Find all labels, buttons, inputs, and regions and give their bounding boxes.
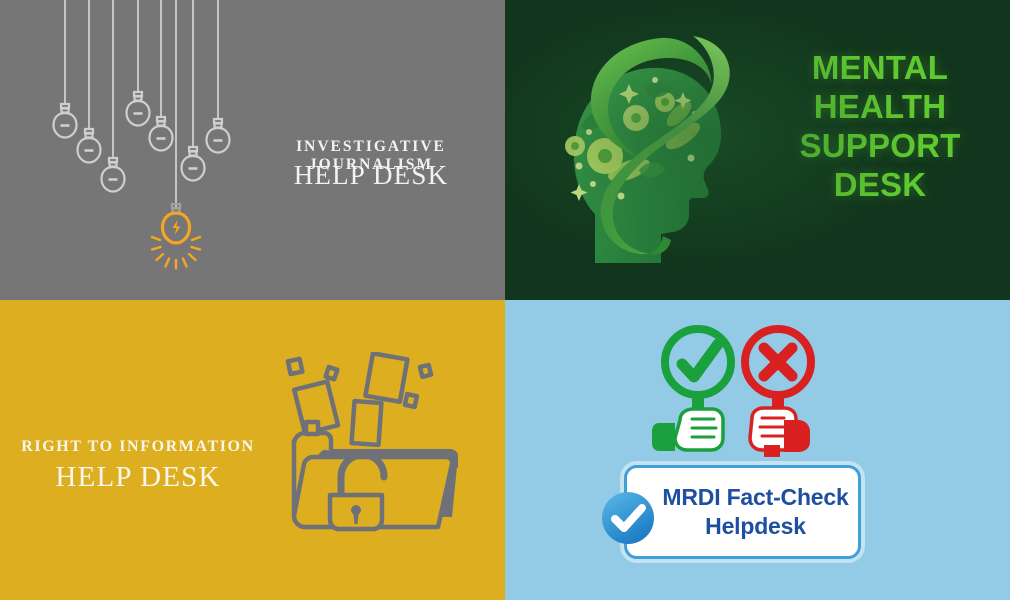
check-icon — [682, 344, 718, 377]
panel-title-investigative-journalism: HELP DESK — [246, 160, 496, 191]
light-bulb-icon — [203, 0, 233, 170]
paper-scrap-icon — [405, 394, 417, 407]
paper-scrap-icon — [420, 365, 431, 377]
mh-line-4: DESK — [760, 165, 1000, 204]
green-ribbon-head-icon — [543, 18, 758, 283]
folder-unlocked-icon — [280, 352, 470, 552]
cross-icon — [764, 348, 792, 376]
true-paddle-icon — [652, 329, 731, 451]
paper-scrap-icon — [326, 367, 338, 379]
true-false-paddles-icon — [640, 320, 835, 460]
panel-right-to-information[interactable]: RIGHT TO INFORMATION HELP DESK — [0, 300, 505, 600]
collage-canvas: INVESTIGATIVE JOURNALISM HELP DESK — [0, 0, 1010, 600]
false-paddle-icon — [745, 329, 811, 457]
mh-line-1: MENTAL — [760, 48, 1000, 87]
paper-scrap-icon — [288, 359, 302, 374]
panel-title-right-to-information: HELP DESK — [12, 461, 264, 494]
panel-kicker-right-to-information: RIGHT TO INFORMATION — [12, 438, 264, 456]
lit-bulb-glyph — [148, 200, 204, 274]
paper-icon — [365, 353, 407, 401]
fact-check-card[interactable]: MRDI Fact-Check Helpdesk — [624, 465, 861, 559]
panel-investigative-journalism[interactable]: INVESTIGATIVE JOURNALISM HELP DESK — [0, 0, 505, 300]
folder-clip — [306, 422, 318, 434]
bulb-glyph — [98, 153, 128, 205]
panel-mental-health-support[interactable]: MENTAL HEALTH SUPPORT DESK — [505, 0, 1010, 300]
fact-check-card-text: MRDI Fact-Check Helpdesk — [636, 483, 848, 541]
bolt-icon — [173, 220, 181, 235]
paper-icon — [352, 401, 382, 445]
panel-title-mental-health-support: MENTAL HEALTH SUPPORT DESK — [760, 48, 1000, 204]
verified-check-badge-icon — [600, 490, 656, 546]
panel-mrdi-fact-check[interactable]: MRDI Fact-Check Helpdesk — [505, 300, 1010, 600]
bulb-glyph — [203, 114, 233, 166]
fact-check-line-1: MRDI Fact-Check — [662, 483, 848, 512]
mh-line-2: HEALTH — [760, 87, 1000, 126]
mh-line-3: SUPPORT — [760, 126, 1000, 165]
fact-check-line-2: Helpdesk — [662, 512, 848, 541]
